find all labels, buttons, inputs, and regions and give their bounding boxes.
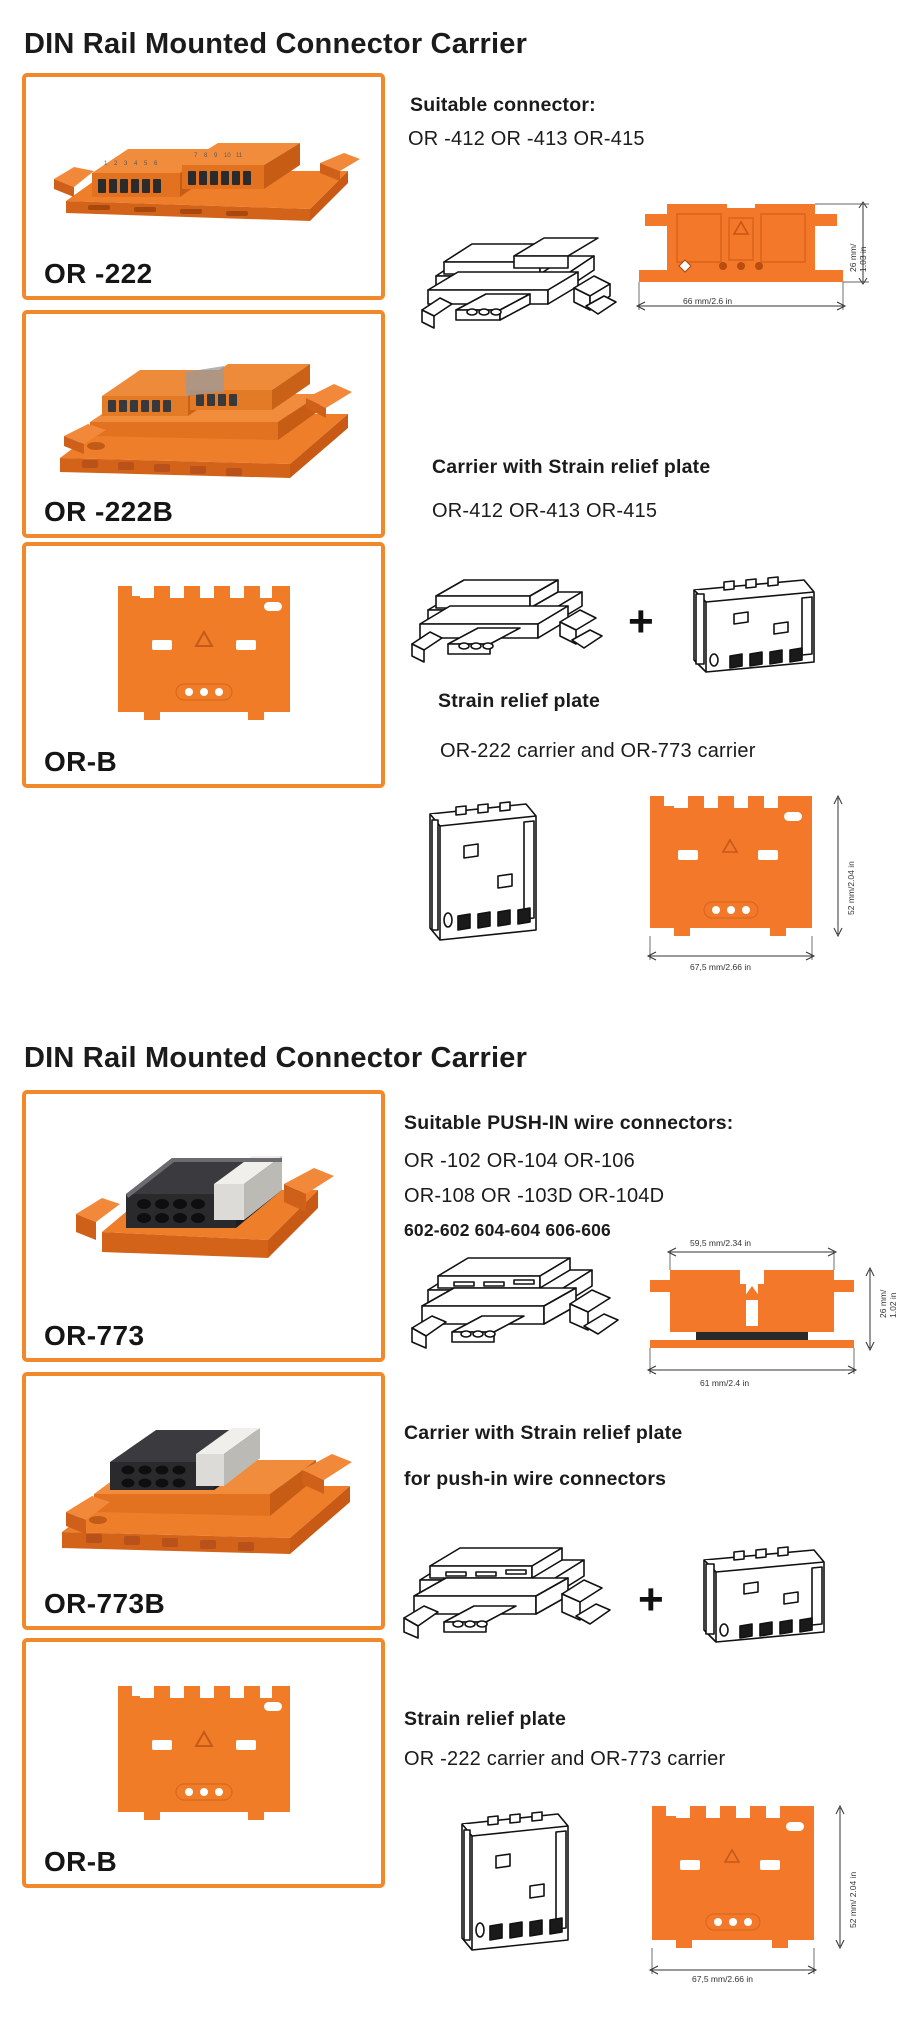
product-photo-or-b-2 [104, 1674, 304, 1839]
product-photo-or-222b [48, 336, 368, 501]
dimension-or-773-top-width: 59,5 mm/2.34 in [690, 1238, 751, 1248]
note-carrier-strain-heading: Carrier with Strain relief plate [432, 456, 710, 479]
product-card-or-773: OR-773 [22, 1090, 385, 1362]
product-label-or-222: OR -222 [44, 258, 153, 290]
dimension-drawing-or-b-2 [628, 1790, 884, 1990]
note-suitable-pushin-heading: Suitable PUSH-IN wire connectors: [404, 1112, 734, 1135]
section-2-title: DIN Rail Mounted Connector Carrier [24, 1042, 527, 1075]
product-photo-or-b [104, 574, 304, 739]
product-label-or-b: OR-B [44, 746, 117, 778]
dimension-drawing-or-222 [625, 188, 881, 330]
product-card-or-222: 123 456 789 1011 OR -222 [22, 73, 385, 300]
note-suitable-connector-models: OR -412 OR -413 OR-415 [408, 128, 645, 151]
product-label-or-773: OR-773 [44, 1320, 144, 1352]
note-strain-plate-models: OR-222 carrier and OR-773 carrier [440, 740, 756, 763]
product-photo-or-222: 123 456 789 1011 [48, 109, 368, 249]
dimension-drawing-or-773 [636, 1240, 886, 1385]
product-label-or-222b: OR -222B [44, 496, 173, 528]
note-carrier-strain-models: OR-412 OR-413 OR-415 [432, 500, 657, 523]
line-drawing-or-222 [418, 232, 628, 342]
note-carrier-strain-sub-2: for push-in wire connectors [404, 1468, 666, 1491]
dimension-or-b-width: 67,5 mm/2.66 in [690, 962, 751, 972]
line-drawing-strain-plate-1 [672, 568, 832, 683]
product-card-or-773b: OR-773B [22, 1372, 385, 1630]
dim773-h-line2: 1.02 in [888, 1292, 898, 1318]
line-drawing-strain-plate-front-2 [440, 1800, 580, 1980]
note-strain-plate-heading-2: Strain relief plate [404, 1708, 566, 1731]
dimension-or-b-2-width: 67,5 mm/2.66 in [692, 1974, 753, 1984]
dim-h-line1: 26 mm/ [848, 244, 858, 272]
note-pushin-models-1: OR -102 OR-104 OR-106 [404, 1150, 635, 1173]
product-photo-or-773 [68, 1128, 348, 1303]
dimension-or-222-width: 66 mm/2.6 in [683, 296, 732, 306]
line-drawing-strain-plate-front [408, 790, 548, 965]
product-label-or-773b: OR-773B [44, 1588, 165, 1620]
plus-symbol-section-1: + [628, 600, 654, 644]
dimension-or-222-height: 26 mm/ 1.03 in [848, 244, 868, 272]
catalog-page: DIN Rail Mounted Connector Carrier [0, 0, 900, 2028]
dimension-or-773-height: 26 mm/ 1.02 in [878, 1290, 898, 1318]
section-1-title: DIN Rail Mounted Connector Carrier [24, 28, 527, 61]
product-photo-or-773b [48, 1404, 368, 1579]
plus-symbol-section-2: + [638, 1578, 664, 1622]
line-drawing-or-222b-carrier [408, 570, 608, 680]
dimension-or-b-2-height: 52 mm/ 2.04 in [848, 1872, 858, 1928]
note-carrier-strain-heading-2: Carrier with Strain relief plate [404, 1422, 682, 1445]
note-suitable-connector-heading: Suitable connector: [410, 94, 596, 117]
line-drawing-or-773 [408, 1250, 626, 1370]
dimension-or-773-width: 61 mm/2.4 in [700, 1378, 749, 1388]
dim-h-line2: 1.03 in [858, 246, 868, 272]
product-card-or-b-2: OR-B [22, 1638, 385, 1888]
line-drawing-or-773b-carrier [400, 1540, 615, 1660]
svg-text:10: 10 [224, 153, 231, 159]
dimension-or-b-height: 52 mm/2.04 in [846, 861, 856, 915]
note-pushin-models-2: OR-108 OR -103D OR-104D [404, 1185, 664, 1208]
product-card-or-222b: OR -222B [22, 310, 385, 538]
note-strain-plate-heading: Strain relief plate [438, 690, 600, 713]
line-drawing-strain-plate-2 [682, 1538, 847, 1658]
note-pushin-models-3: 602-602 604-604 606-606 [404, 1220, 611, 1241]
product-card-or-b: OR-B [22, 542, 385, 788]
note-strain-plate-models-2: OR -222 carrier and OR-773 carrier [404, 1748, 725, 1771]
dim773-h-line1: 26 mm/ [878, 1290, 888, 1318]
product-label-or-b-2: OR-B [44, 1846, 117, 1878]
svg-text:11: 11 [236, 153, 243, 159]
